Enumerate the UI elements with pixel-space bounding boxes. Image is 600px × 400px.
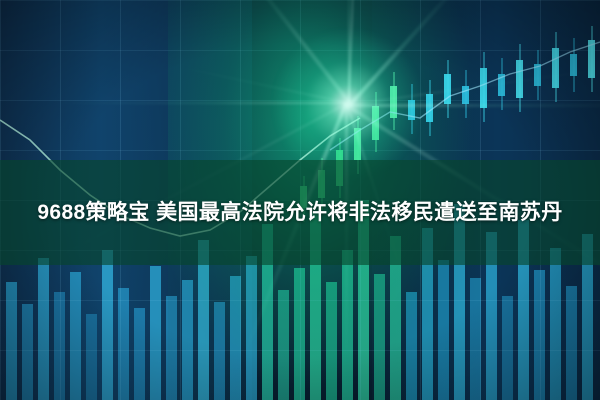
- headline-band: 9688策略宝 美国最高法院允许将非法移民遣送至南苏丹: [0, 160, 600, 265]
- glow-burst: [273, 29, 423, 179]
- news-thumbnail: 9688策略宝 美国最高法院允许将非法移民遣送至南苏丹: [0, 0, 600, 400]
- headline-text: 9688策略宝 美国最高法院允许将非法移民遣送至南苏丹: [19, 196, 580, 230]
